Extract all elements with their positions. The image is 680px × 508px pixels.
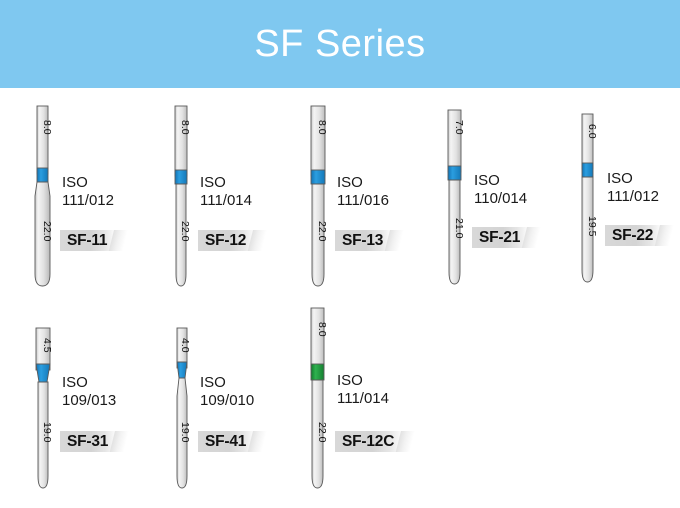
page-title: SF Series — [254, 25, 425, 63]
iso-code: ISO 111/012 — [607, 170, 659, 205]
iso-number: 109/013 — [62, 392, 116, 410]
product-card-sf-21[interactable]: 7.0 ISO 110/014 21.0 SF-21 — [422, 96, 558, 301]
product-row: 8.0 ISO 111/012 22.0 SF-11 — [0, 96, 680, 301]
model-badge: SF-12C — [335, 431, 403, 452]
total-length-label: 19.0 — [180, 422, 191, 442]
total-length-label: 21.0 — [454, 218, 465, 238]
iso-label: ISO — [62, 174, 114, 192]
product-card-sf-12[interactable]: 8.0 ISO 111/014 22.0 SF-12 — [148, 96, 284, 301]
total-length-label: 22.0 — [317, 221, 328, 241]
iso-code: ISO 111/014 — [337, 372, 389, 407]
model-badge: SF-31 — [60, 431, 117, 452]
model-badge: SF-21 — [472, 227, 529, 248]
head-length-label: 8.0 — [317, 322, 328, 337]
total-length-label: 22.0 — [180, 221, 191, 241]
model-badge: SF-22 — [605, 225, 662, 246]
iso-number: 111/014 — [200, 192, 252, 210]
head-length-label: 4.0 — [180, 338, 191, 353]
iso-number: 110/014 — [474, 190, 527, 208]
product-card-sf-22[interactable]: 6.0 ISO 111/012 19.5 SF-22 — [555, 96, 680, 301]
header-banner: SF Series — [0, 0, 680, 88]
product-card-sf-11[interactable]: 8.0 ISO 111/012 22.0 SF-11 — [10, 96, 146, 301]
iso-label: ISO — [62, 374, 116, 392]
total-length-label: 22.0 — [317, 422, 328, 442]
iso-number: 109/010 — [200, 392, 254, 410]
head-length-label: 8.0 — [180, 120, 191, 135]
head-length-label: 6.0 — [587, 124, 598, 139]
product-card-sf-41[interactable]: 4.0 ISO 109/010 19.0 SF-41 — [148, 300, 284, 505]
product-grid: 8.0 ISO 111/012 22.0 SF-11 — [0, 88, 680, 508]
iso-label: ISO — [200, 374, 254, 392]
iso-code: ISO 111/012 — [62, 174, 114, 209]
iso-number: 111/016 — [337, 192, 389, 210]
iso-label: ISO — [337, 372, 389, 390]
total-length-label: 22.0 — [42, 221, 53, 241]
model-badge: SF-13 — [335, 230, 392, 251]
product-row: 4.5 ISO 109/013 19.0 SF-31 — [0, 300, 680, 505]
total-length-label: 19.5 — [587, 216, 598, 236]
model-badge: SF-11 — [60, 230, 116, 251]
product-card-sf-12c[interactable]: 8.0 ISO 111/014 22.0 SF-12C — [285, 300, 435, 505]
product-card-sf-31[interactable]: 4.5 ISO 109/013 19.0 SF-31 — [10, 300, 146, 505]
head-length-label: 8.0 — [317, 120, 328, 135]
iso-label: ISO — [607, 170, 659, 188]
iso-label: ISO — [337, 174, 389, 192]
iso-code: ISO 109/010 — [200, 374, 254, 409]
iso-label: ISO — [200, 174, 252, 192]
iso-code: ISO 111/016 — [337, 174, 389, 209]
iso-code: ISO 110/014 — [474, 172, 527, 207]
iso-number: 111/012 — [62, 192, 114, 210]
iso-number: 111/012 — [607, 188, 659, 206]
iso-label: ISO — [474, 172, 527, 190]
model-badge: SF-41 — [198, 431, 255, 452]
product-card-sf-13[interactable]: 8.0 ISO 111/016 22.0 SF-13 — [285, 96, 421, 301]
head-length-label: 4.5 — [42, 338, 53, 353]
iso-code: ISO 111/014 — [200, 174, 252, 209]
head-length-label: 8.0 — [42, 120, 53, 135]
model-badge: SF-12 — [198, 230, 255, 251]
head-length-label: 7.0 — [454, 120, 465, 135]
total-length-label: 19.0 — [42, 422, 53, 442]
iso-number: 111/014 — [337, 390, 389, 408]
iso-code: ISO 109/013 — [62, 374, 116, 409]
